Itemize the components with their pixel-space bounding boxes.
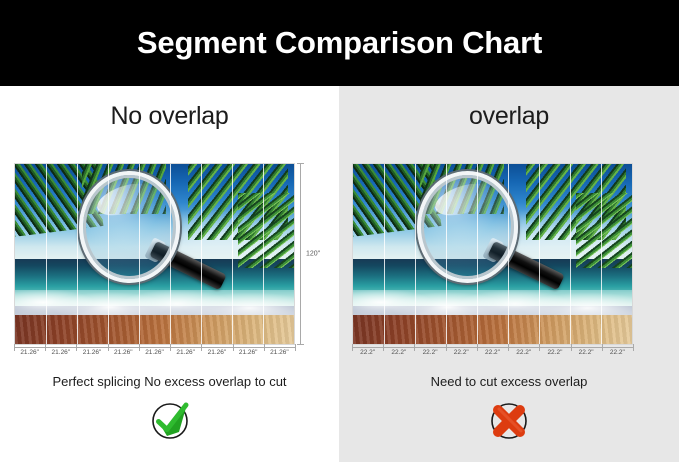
title-banner: Segment Comparison Chart bbox=[0, 0, 679, 86]
comparison-chart-root: Segment Comparison Chart No overlap bbox=[0, 0, 679, 462]
check-mark-icon bbox=[146, 396, 194, 444]
segment-label: 21.26" bbox=[108, 349, 139, 356]
beach-mural-left bbox=[14, 163, 295, 345]
segment-label: 22.2" bbox=[446, 349, 477, 356]
segment-label: 21.26" bbox=[170, 349, 201, 356]
segment-label: 22.2" bbox=[477, 349, 508, 356]
segment-label: 21.26" bbox=[201, 349, 232, 356]
segment-label: 22.2" bbox=[352, 349, 383, 356]
segment-label: 21.26" bbox=[139, 349, 170, 356]
comparison-panels: No overlap bbox=[0, 86, 679, 462]
height-label-left: 120" bbox=[306, 251, 320, 258]
segment-dimension-left: 21.26" 21.26" 21.26" 21.26" 21.26" 21.26… bbox=[14, 347, 295, 365]
segment-label: 21.26" bbox=[76, 349, 107, 356]
beach-mural-right bbox=[352, 163, 633, 345]
page-title: Segment Comparison Chart bbox=[137, 25, 542, 61]
caption-right: Need to cut excess overlap bbox=[339, 374, 679, 389]
verdict-right bbox=[339, 396, 679, 444]
segment-label: 21.26" bbox=[14, 349, 45, 356]
caption-left: Perfect splicing No excess overlap to cu… bbox=[0, 374, 339, 389]
segment-label: 22.2" bbox=[539, 349, 570, 356]
verdict-left bbox=[0, 396, 339, 444]
panel-overlap: overlap bbox=[339, 86, 679, 462]
panel-heading-left: No overlap bbox=[0, 102, 339, 131]
panel-heading-right: overlap bbox=[339, 102, 679, 131]
segment-seams-left bbox=[15, 164, 294, 344]
segment-label: 22.2" bbox=[414, 349, 445, 356]
segment-label: 22.2" bbox=[508, 349, 539, 356]
mural-image-right bbox=[352, 163, 633, 345]
segment-label: 21.26" bbox=[264, 349, 295, 356]
segment-label: 22.2" bbox=[571, 349, 602, 356]
segment-seams-right bbox=[353, 164, 632, 344]
segment-label: 21.26" bbox=[45, 349, 76, 356]
panel-no-overlap: No overlap bbox=[0, 86, 339, 462]
segment-label: 21.26" bbox=[233, 349, 264, 356]
segment-label: 22.2" bbox=[602, 349, 633, 356]
segment-label: 22.2" bbox=[383, 349, 414, 356]
cross-mark-icon bbox=[485, 396, 533, 444]
segment-labels-right: 22.2" 22.2" 22.2" 22.2" 22.2" 22.2" 22.2… bbox=[352, 349, 633, 356]
segment-dimension-right: 22.2" 22.2" 22.2" 22.2" 22.2" 22.2" 22.2… bbox=[352, 347, 633, 365]
mural-image-left bbox=[14, 163, 295, 345]
segment-labels-left: 21.26" 21.26" 21.26" 21.26" 21.26" 21.26… bbox=[14, 349, 295, 356]
